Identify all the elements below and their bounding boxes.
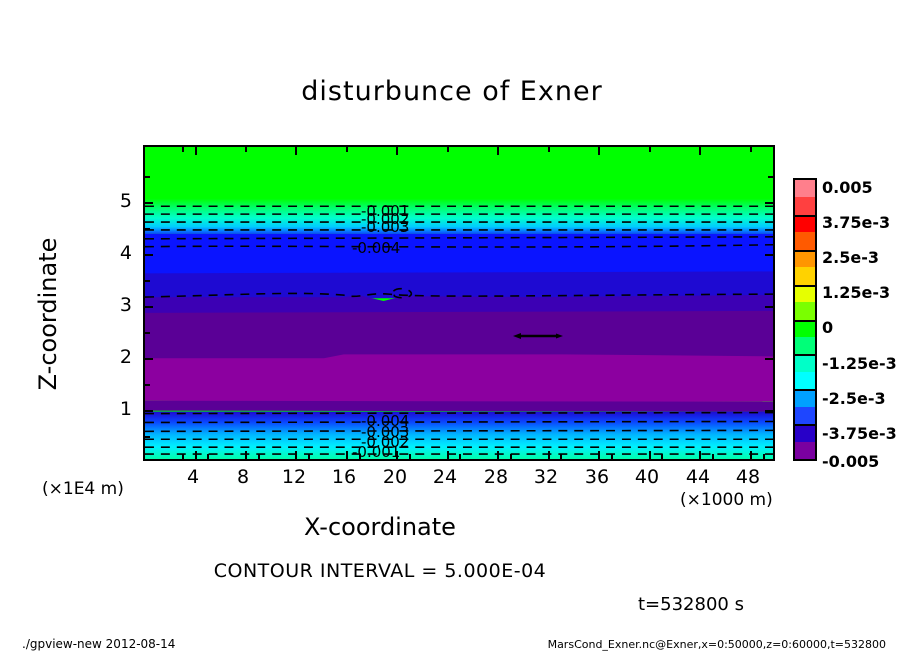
y-tick-major-right bbox=[765, 410, 773, 412]
x-tick-minor-top bbox=[245, 147, 247, 152]
x-tick-major bbox=[649, 451, 651, 459]
colorbar-swatch bbox=[795, 250, 815, 267]
time-stamp: t=532800 s bbox=[638, 594, 744, 615]
x-tick-minor-top bbox=[447, 147, 449, 152]
y-tick-minor bbox=[145, 228, 150, 230]
y-tick-label: 3 bbox=[98, 294, 132, 316]
x-axis-unit: (×1000 m) bbox=[680, 490, 773, 510]
x-tick-major bbox=[245, 451, 247, 459]
x-tick-major bbox=[295, 451, 297, 459]
y-tick-major-right bbox=[765, 254, 773, 256]
contour-interval-note: CONTOUR INTERVAL = 5.000E-04 bbox=[0, 560, 760, 582]
x-tick-minor-top bbox=[750, 147, 752, 152]
x-tick-minor-top bbox=[346, 147, 348, 152]
colorbar-swatch bbox=[795, 337, 815, 354]
y-tick-major-right bbox=[765, 306, 773, 308]
x-tick-minor-top bbox=[548, 147, 550, 152]
gpview-plot-window: disturbunce of Exner bbox=[0, 0, 904, 654]
x-tick-major bbox=[346, 451, 348, 459]
contour-label: -0.001 bbox=[352, 443, 400, 461]
colorbar-label: 2.5e-3 bbox=[822, 248, 879, 267]
colorbar-swatch bbox=[795, 389, 815, 406]
y-tick-label: 5 bbox=[98, 190, 132, 212]
x-tick-minor bbox=[409, 454, 411, 459]
x-tick-minor bbox=[661, 454, 663, 459]
page-title: disturbunce of Exner bbox=[0, 76, 904, 107]
colorbar-label: -3.75e-3 bbox=[822, 424, 897, 443]
x-tick-label: 48 bbox=[718, 466, 778, 488]
y-tick-major bbox=[145, 254, 153, 256]
colorbar-swatch bbox=[795, 407, 815, 424]
x-tick-minor bbox=[308, 454, 310, 459]
colorbar-swatch bbox=[795, 372, 815, 389]
colorbar-label: 0 bbox=[822, 318, 833, 337]
x-axis-title: X-coordinate bbox=[0, 513, 760, 541]
y-tick-minor bbox=[145, 280, 150, 282]
colorbar-swatch bbox=[795, 302, 815, 319]
y-tick-major bbox=[145, 358, 153, 360]
x-tick-major-top bbox=[396, 147, 398, 155]
y-tick-label: 2 bbox=[98, 346, 132, 368]
x-tick-major bbox=[497, 451, 499, 459]
y-axis-unit: (×1E4 m) bbox=[42, 479, 124, 499]
contour-label: -0.003 bbox=[361, 218, 409, 236]
x-tick-major bbox=[699, 451, 701, 459]
x-tick-minor bbox=[182, 454, 184, 459]
x-tick-minor-top bbox=[182, 147, 184, 152]
colorbar-swatch bbox=[795, 285, 815, 302]
x-tick-major-top bbox=[699, 147, 701, 155]
x-tick-major bbox=[195, 451, 197, 459]
colorbar-label: -2.5e-3 bbox=[822, 389, 886, 408]
y-tick-label: 1 bbox=[98, 398, 132, 420]
x-tick-major-top bbox=[497, 147, 499, 155]
colorbar-label: -1.25e-3 bbox=[822, 354, 897, 373]
colorbar-label: 1.25e-3 bbox=[822, 283, 890, 302]
y-tick-minor bbox=[145, 436, 150, 438]
x-tick-minor bbox=[763, 454, 765, 459]
footer-command: ./gpview-new 2012-08-14 bbox=[22, 637, 175, 651]
y-tick-minor bbox=[145, 176, 150, 178]
x-tick-major-top bbox=[195, 147, 197, 155]
x-tick-major bbox=[447, 451, 449, 459]
colorbar-label: -0.005 bbox=[822, 452, 879, 471]
footer-dataset-info: MarsCond_Exner.nc@Exner,x=0:50000,z=0:60… bbox=[548, 638, 886, 651]
colorbar-swatch bbox=[795, 197, 815, 214]
y-tick-minor bbox=[145, 384, 150, 386]
colorbar-swatch bbox=[795, 180, 815, 197]
x-tick-major bbox=[548, 451, 550, 459]
y-tick-label: 4 bbox=[98, 242, 132, 264]
reference-vector-arrow bbox=[513, 330, 563, 342]
x-tick-minor bbox=[510, 454, 512, 459]
colorbar-swatch bbox=[795, 442, 815, 459]
contour-field bbox=[145, 147, 773, 459]
colorbar-label: 3.75e-3 bbox=[822, 213, 890, 232]
colorbar-swatch bbox=[795, 354, 815, 371]
x-tick-minor bbox=[207, 454, 209, 459]
y-tick-major bbox=[145, 306, 153, 308]
x-tick-major bbox=[598, 451, 600, 459]
y-tick-minor-right bbox=[768, 176, 773, 178]
x-tick-minor bbox=[258, 454, 260, 459]
y-tick-minor bbox=[145, 332, 150, 334]
contour-label: -0.004 bbox=[352, 239, 400, 257]
x-tick-minor bbox=[712, 454, 714, 459]
y-axis-title: Z-coordinate bbox=[34, 204, 62, 424]
x-tick-minor bbox=[560, 454, 562, 459]
y-tick-major-right bbox=[765, 202, 773, 204]
x-tick-major-top bbox=[295, 147, 297, 155]
y-tick-major-right bbox=[765, 358, 773, 360]
colorbar-swatch bbox=[795, 320, 815, 337]
colorbar-label: 0.005 bbox=[822, 178, 873, 197]
x-tick-major bbox=[750, 451, 752, 459]
y-tick-major bbox=[145, 410, 153, 412]
colorbar-swatch bbox=[795, 424, 815, 441]
colorbar-swatch bbox=[795, 232, 815, 249]
x-tick-minor bbox=[459, 454, 461, 459]
x-tick-minor bbox=[611, 454, 613, 459]
plot-area[interactable]: -0.001 -0.002 -0.003 -0.004 -0.004 -0.00… bbox=[143, 145, 775, 461]
x-tick-minor-top bbox=[649, 147, 651, 152]
y-tick-major bbox=[145, 202, 153, 204]
colorbar-swatch bbox=[795, 267, 815, 284]
x-tick-major-top bbox=[598, 147, 600, 155]
colorbar[interactable] bbox=[793, 178, 817, 461]
colorbar-swatch bbox=[795, 215, 815, 232]
